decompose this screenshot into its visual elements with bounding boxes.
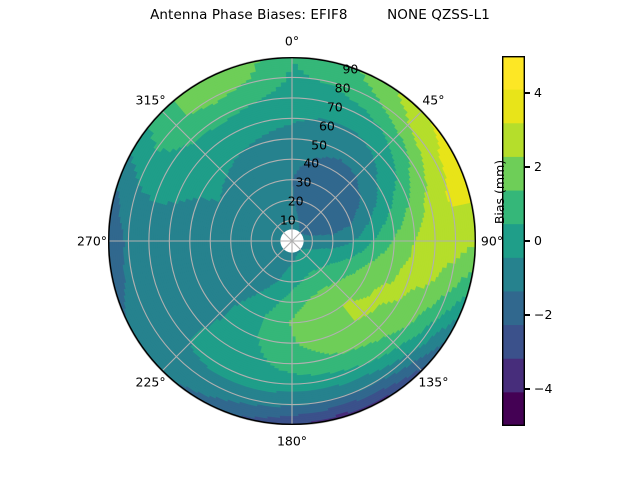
colorbar-tick-label: −2 — [534, 307, 552, 322]
radial-tick-label-10: 10 — [280, 213, 296, 228]
radial-tick-label-90: 90 — [342, 62, 358, 77]
colorbar-axis-label: Bias (mm) — [492, 132, 507, 252]
polar-contour-svg — [108, 57, 476, 425]
radial-tick-label-40: 40 — [303, 156, 319, 171]
radial-tick-label-30: 30 — [296, 175, 312, 190]
colorbar-tick-mark — [525, 166, 530, 167]
radial-tick-label-60: 60 — [319, 118, 335, 133]
radial-tick-label-50: 50 — [311, 137, 327, 152]
angular-tick-label-225: 225° — [136, 375, 166, 390]
polar-plot[interactable]: 0°45°90°135°180°225°270°315° 10203040506… — [108, 57, 476, 425]
angular-tick-label-135: 135° — [418, 375, 448, 390]
colorbar-tick-label: −4 — [534, 381, 552, 396]
colorbar-tick-label: 0 — [534, 233, 542, 248]
angular-tick-label-0: 0° — [285, 34, 299, 49]
colorbar-tick-label: 4 — [534, 85, 542, 100]
angular-tick-label-315: 315° — [136, 92, 166, 107]
page-title: Antenna Phase Biases: EFIF8 NONE QZSS-L1 — [0, 7, 640, 23]
colorbar-tick-mark — [525, 388, 530, 389]
radial-tick-label-70: 70 — [327, 99, 343, 114]
angular-tick-label-180: 180° — [277, 434, 307, 449]
colorbar-tick-label: 2 — [534, 159, 542, 174]
radial-tick-label-20: 20 — [288, 194, 304, 209]
angular-tick-label-45: 45° — [422, 92, 444, 107]
radial-tick-label-80: 80 — [335, 80, 351, 95]
figure-canvas: Antenna Phase Biases: EFIF8 NONE QZSS-L1… — [0, 0, 640, 480]
colorbar-tick-mark — [525, 92, 530, 93]
angular-tick-label-270: 270° — [77, 234, 107, 249]
colorbar-tick-mark — [525, 314, 530, 315]
colorbar-tick-mark — [525, 240, 530, 241]
polar-grid — [108, 57, 476, 425]
